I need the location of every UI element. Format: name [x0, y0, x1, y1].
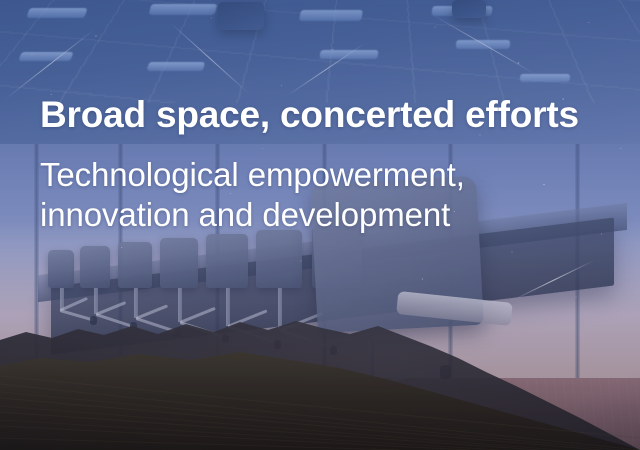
ceiling-light [319, 50, 378, 59]
office-chair [160, 238, 198, 288]
mountain-ridge-overlay [0, 288, 640, 450]
ceiling-light [456, 40, 511, 49]
hero-banner: Broad space, concerted efforts Technolog… [0, 0, 640, 450]
banner-copy: Broad space, concerted efforts Technolog… [40, 96, 610, 236]
ceiling-light [149, 4, 218, 15]
ceiling-projector [452, 0, 486, 18]
office-chair [118, 242, 152, 288]
ceiling-light [26, 8, 87, 18]
banner-subheadline: Technological empowerment, innovation an… [40, 155, 610, 236]
ceiling-projector [218, 2, 264, 30]
ceiling-light [18, 52, 73, 61]
ceiling-light [147, 62, 205, 71]
banner-subheadline-line-2: innovation and development [40, 195, 610, 235]
office-chair [48, 250, 74, 288]
ceiling-light [520, 74, 570, 82]
banner-headline: Broad space, concerted efforts [40, 96, 610, 133]
ceiling-light [299, 10, 363, 21]
banner-subheadline-line-1: Technological empowerment, [40, 155, 610, 195]
office-chair [256, 230, 302, 288]
office-chair [206, 234, 248, 288]
office-chair [80, 246, 110, 288]
